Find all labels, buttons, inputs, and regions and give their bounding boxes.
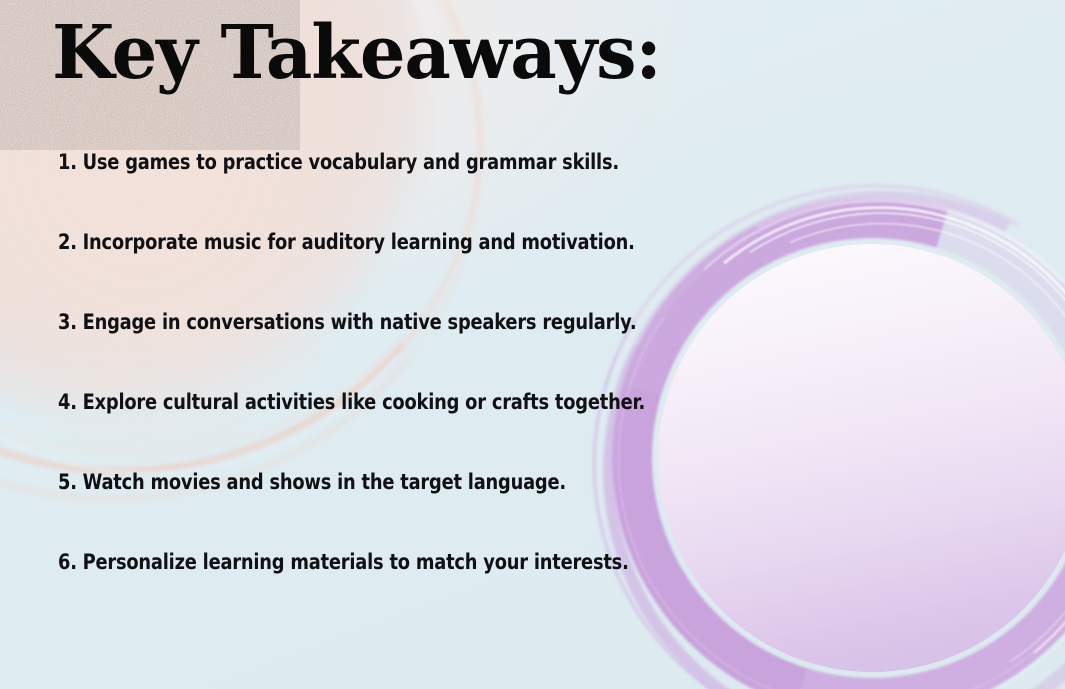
list-item-number: 5.	[58, 472, 77, 494]
list-item: 2. Incorporate music for auditory learni…	[58, 232, 639, 312]
list-item: 1. Use games to practice vocabulary and …	[58, 152, 639, 232]
list-item: 4. Explore cultural activities like cook…	[58, 392, 639, 472]
list-item-text: Personalize learning materials to match …	[83, 552, 629, 574]
slide-content: Key Takeaways: 1. Use games to practice …	[0, 0, 1065, 689]
list-item-text: Watch movies and shows in the target lan…	[83, 472, 566, 494]
list-item-text: Explore cultural activities like cooking…	[83, 392, 645, 414]
list-item-text: Use games to practice vocabulary and gra…	[83, 152, 619, 174]
page-title: Key Takeaways:	[52, 16, 661, 90]
list-item-number: 2.	[58, 232, 77, 254]
list-item: 5. Watch movies and shows in the target …	[58, 472, 639, 552]
takeaways-list: 1. Use games to practice vocabulary and …	[58, 152, 758, 632]
list-item-text: Incorporate music for auditory learning …	[83, 232, 635, 254]
list-item-number: 4.	[58, 392, 77, 414]
list-item-number: 6.	[58, 552, 77, 574]
list-item: 3. Engage in conversations with native s…	[58, 312, 639, 392]
list-item-number: 3.	[58, 312, 77, 334]
slide-canvas: Key Takeaways: 1. Use games to practice …	[0, 0, 1065, 689]
list-item: 6. Personalize learning materials to mat…	[58, 552, 639, 632]
list-item-number: 1.	[58, 152, 77, 174]
list-item-text: Engage in conversations with native spea…	[83, 312, 637, 334]
